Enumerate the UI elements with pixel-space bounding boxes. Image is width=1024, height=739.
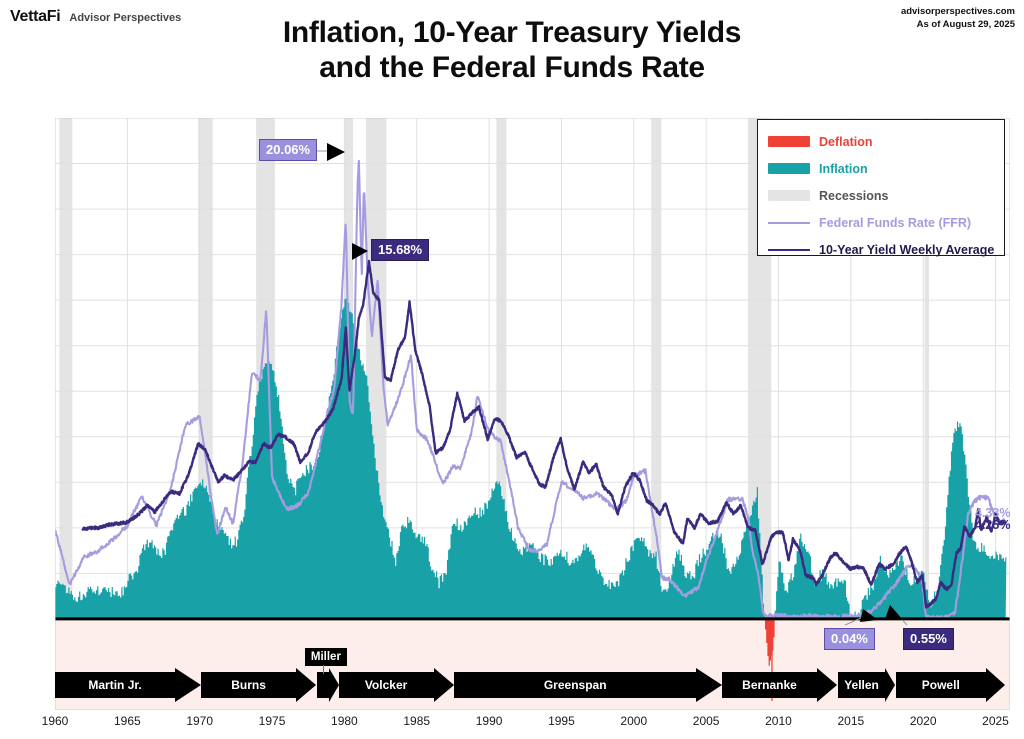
chair-arrow-icon xyxy=(696,668,722,702)
legend-swatch-icon xyxy=(768,249,810,251)
fed-chairs-timeline: Martin Jr.BurnsVolckerGreenspanBernankeY… xyxy=(55,672,1010,698)
annotation-ffr-peak: 20.06% xyxy=(259,139,317,161)
legend-item-inflation[interactable]: Inflation xyxy=(768,155,994,182)
chair-label: Burns xyxy=(201,672,296,698)
fed-chair-miller-callout: Miller xyxy=(305,648,347,666)
title-line-1: Inflation, 10-Year Treasury Yields xyxy=(0,16,1024,51)
chair-arrow-icon xyxy=(175,668,201,702)
legend-label: Federal Funds Rate (FFR) xyxy=(819,216,971,230)
chair-arrow-icon xyxy=(329,668,339,702)
chair-arrow-icon xyxy=(434,668,454,702)
chart-legend: DeflationInflationRecessionsFederal Fund… xyxy=(757,119,1005,256)
legend-swatch-icon xyxy=(768,163,810,174)
x-tick-label: 1970 xyxy=(186,714,213,728)
chair-label: Martin Jr. xyxy=(55,672,175,698)
fed-chair-miller xyxy=(317,672,339,698)
fed-chair-yellen: Yellen xyxy=(838,672,896,698)
x-tick-label: 1985 xyxy=(403,714,430,728)
title-line-2: and the Federal Funds Rate xyxy=(0,51,1024,86)
fed-chair-bernanke: Bernanke xyxy=(722,672,838,698)
chair-arrow-icon xyxy=(817,668,837,702)
x-tick-label: 1975 xyxy=(259,714,286,728)
x-axis: 1960196519701975198019851990199520002005… xyxy=(55,714,1010,736)
legend-swatch-icon xyxy=(768,136,810,147)
annotation-yield-low: 0.55% xyxy=(903,628,954,650)
x-tick-label: 2015 xyxy=(837,714,864,728)
x-tick-label: 1990 xyxy=(476,714,503,728)
legend-swatch-icon xyxy=(768,190,810,201)
recession-band xyxy=(59,118,72,619)
fed-chair-volcker: Volcker xyxy=(339,672,455,698)
miller-callout-stem xyxy=(323,665,324,674)
recession-band xyxy=(651,118,661,619)
fed-chair-martin-jr: Martin Jr. xyxy=(55,672,201,698)
x-tick-label: 2000 xyxy=(620,714,647,728)
fed-chair-burns: Burns xyxy=(201,672,317,698)
chair-label: Yellen xyxy=(838,672,885,698)
chair-label: Greenspan xyxy=(454,672,696,698)
x-tick-label: 2020 xyxy=(910,714,937,728)
chair-label: Bernanke xyxy=(722,672,817,698)
fed-chair-greenspan: Greenspan xyxy=(454,672,722,698)
chair-arrow-icon xyxy=(885,668,895,702)
x-tick-label: 2025 xyxy=(982,714,1009,728)
x-tick-label: 1960 xyxy=(42,714,69,728)
x-tick-label: 1980 xyxy=(331,714,358,728)
chair-arrow-icon xyxy=(986,668,1005,702)
chair-label: Volcker xyxy=(339,672,434,698)
annotation-yield-peak: 15.68% xyxy=(371,239,429,261)
chair-bar xyxy=(317,672,329,698)
x-tick-label: 2005 xyxy=(693,714,720,728)
x-tick-label: 2010 xyxy=(765,714,792,728)
chair-label: Powell xyxy=(896,672,986,698)
legend-item-deflation[interactable]: Deflation xyxy=(768,128,994,155)
fed-chair-powell: Powell xyxy=(896,672,1006,698)
chair-arrow-icon xyxy=(296,668,316,702)
x-tick-label: 1965 xyxy=(114,714,141,728)
legend-label: Inflation xyxy=(819,162,868,176)
legend-label: 10-Year Yield Weekly Average xyxy=(819,243,994,257)
legend-item-federal-funds-rate-ffr[interactable]: Federal Funds Rate (FFR) xyxy=(768,209,994,236)
legend-item-10-year-yield-weekly-average[interactable]: 10-Year Yield Weekly Average xyxy=(768,236,994,263)
x-tick-label: 1995 xyxy=(548,714,575,728)
end-label-yield-last: 4.25% xyxy=(975,518,1010,532)
legend-label: Deflation xyxy=(819,135,872,149)
legend-label: Recessions xyxy=(819,189,888,203)
legend-swatch-icon xyxy=(768,222,810,224)
legend-item-recessions[interactable]: Recessions xyxy=(768,182,994,209)
annotation-ffr-low: 0.04% xyxy=(824,628,875,650)
page-title: Inflation, 10-Year Treasury Yields and t… xyxy=(0,16,1024,86)
